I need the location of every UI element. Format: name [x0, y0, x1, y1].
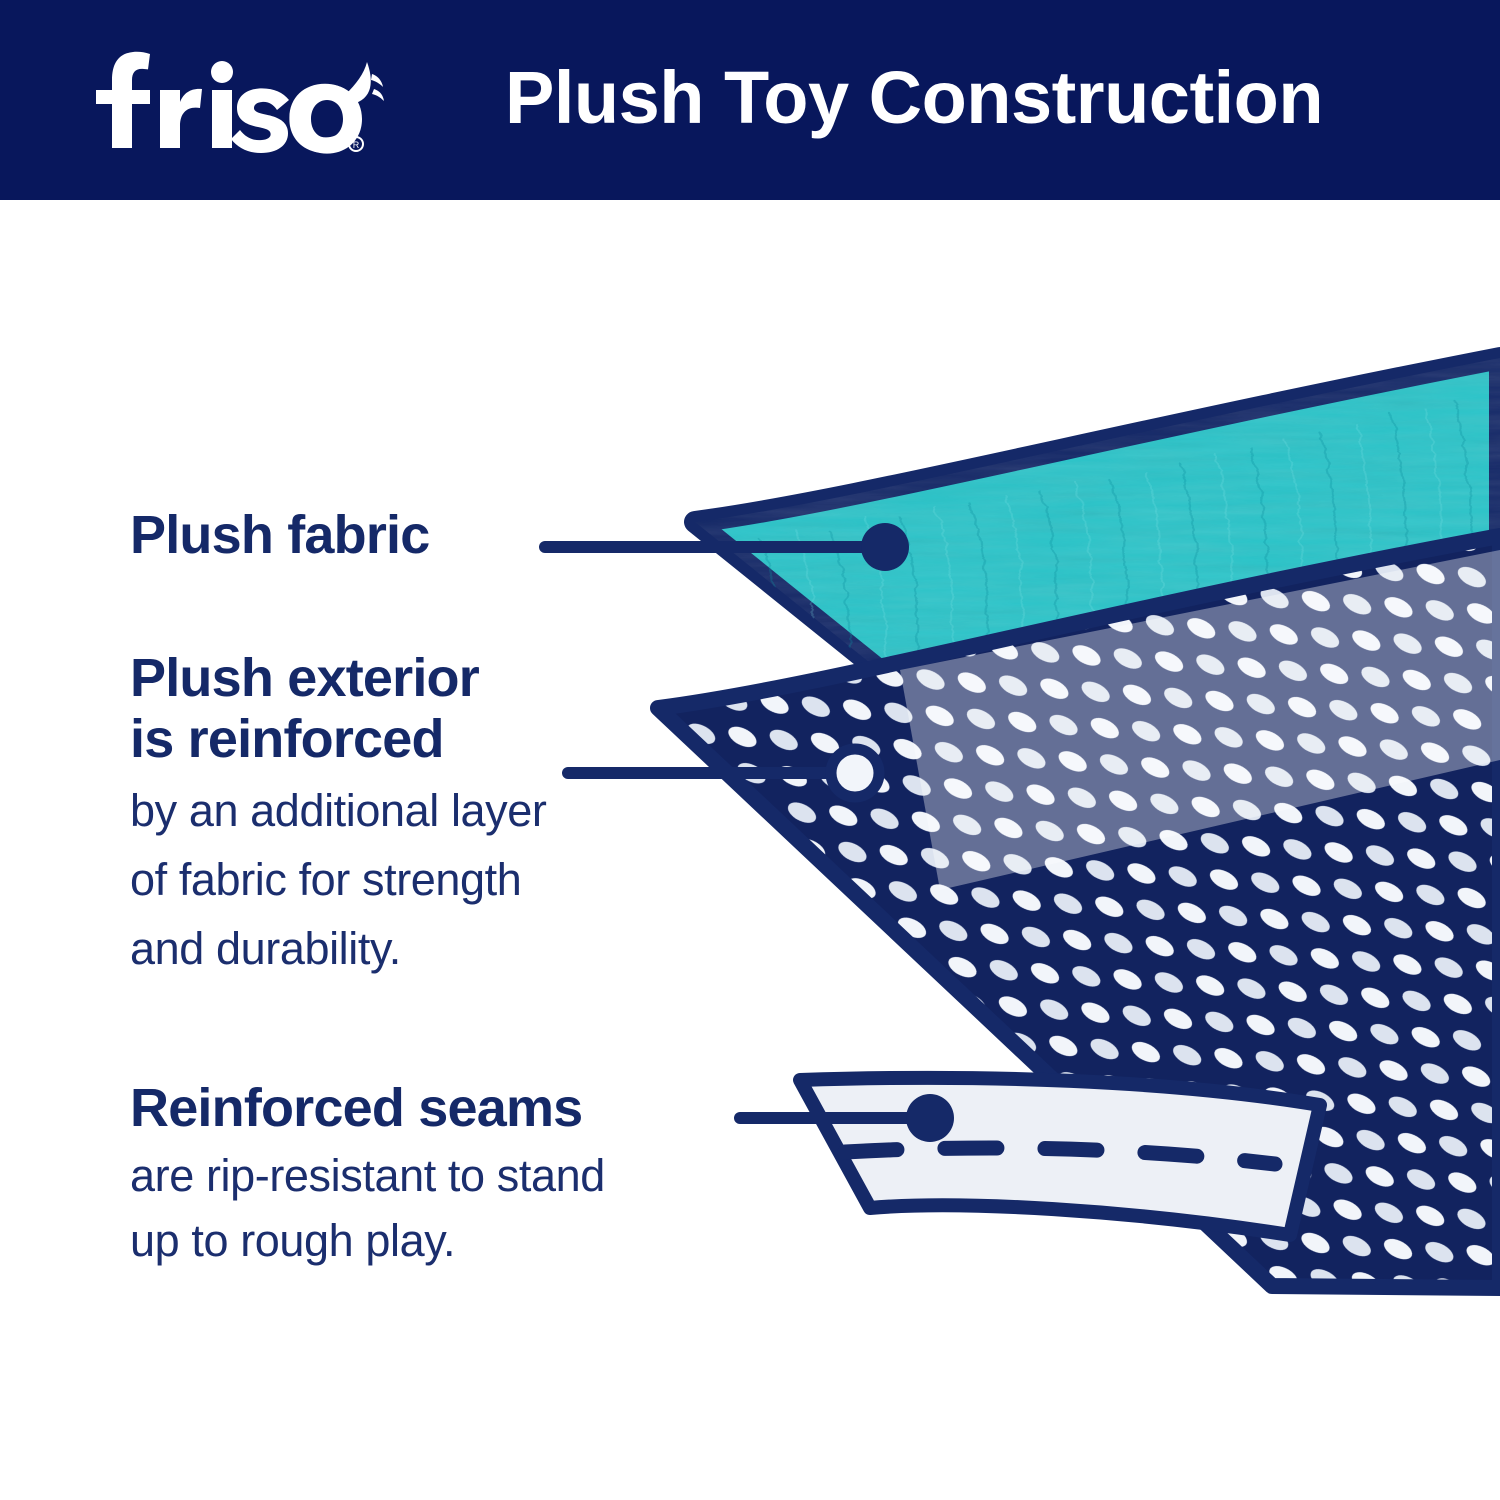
seam-flap-layer: [800, 1078, 1320, 1235]
page-title: Plush Toy Construction: [505, 50, 1323, 146]
callout-heading: Plush fabric: [130, 505, 429, 566]
frisco-logo: R: [84, 44, 384, 156]
callout-heading: Reinforced seams: [130, 1078, 605, 1139]
infographic-page: R Plush Toy Construction: [0, 0, 1500, 1500]
callout-plush-exterior: Plush exterior is reinforced by an addit…: [130, 648, 546, 977]
header-bar: R Plush Toy Construction: [0, 0, 1500, 200]
callout-reinforced-seams: Reinforced seams are rip-resistant to st…: [130, 1078, 605, 1269]
callout-body-line2: up to rough play.: [130, 1214, 605, 1269]
leader-dot-outlined: [831, 749, 879, 797]
callout-heading-line2: is reinforced: [130, 709, 546, 770]
callout-body-line3: and durability.: [130, 922, 546, 977]
callout-plush-fabric: Plush fabric: [130, 505, 429, 566]
svg-text:R: R: [353, 140, 360, 150]
callout-body-line1: by an additional layer: [130, 784, 546, 839]
callout-heading-line1: Plush exterior: [130, 648, 546, 709]
leader-dot-filled: [906, 1094, 954, 1142]
leader-dot-filled: [861, 523, 909, 571]
callout-body-line1: are rip-resistant to stand: [130, 1149, 605, 1204]
callout-body-line2: of fabric for strength: [130, 853, 546, 908]
